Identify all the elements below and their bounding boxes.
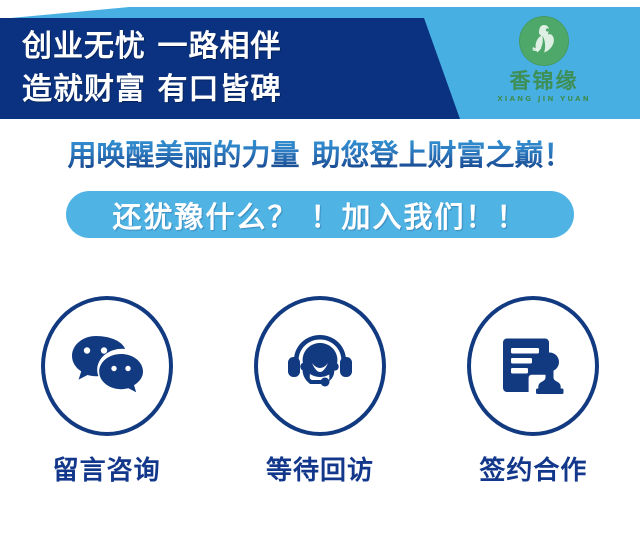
step-item-consult[interactable]: 留言咨询 xyxy=(0,296,213,496)
headline-line-1: 创业无忧 一路相伴 xyxy=(22,26,432,69)
logo-brand-pinyin: XIANG JIN YUAN xyxy=(497,95,591,103)
wechat-chat-bubbles-icon xyxy=(67,330,147,402)
step-circle-callback xyxy=(254,296,386,436)
steps-row: 留言咨询 xyxy=(0,296,640,496)
subheadline-part-2: 助您登上财富之巅！ xyxy=(312,138,573,172)
subheadline-part-1: 用唤醒美丽的力量 xyxy=(67,138,299,172)
step-label-consult: 留言咨询 xyxy=(53,450,161,487)
subheadline-text: 用唤醒美丽的力量助您登上财富之巅！ xyxy=(67,132,572,174)
step-item-callback[interactable]: 等待回访 xyxy=(213,296,426,496)
join-us-cta-button[interactable]: 还犹豫什么？ ！加入我们！！ xyxy=(66,191,574,238)
step-label-contract: 签约合作 xyxy=(479,450,587,487)
banner-headline-group: 创业无忧 一路相伴 造就财富 有口皆碑 xyxy=(22,18,432,119)
step-circle-contract xyxy=(467,296,599,436)
headline-line-2: 造就财富 有口皆碑 xyxy=(22,69,432,112)
step-item-contract[interactable]: 签约合作 xyxy=(427,296,640,496)
step-label-callback: 等待回访 xyxy=(266,450,374,487)
subheadline: 用唤醒美丽的力量助您登上财富之巅！ xyxy=(0,126,640,180)
logo-brand-name: 香锦缘 xyxy=(510,69,579,92)
join-us-cta-label: 还犹豫什么？ ！加入我们！！ xyxy=(112,194,527,236)
brand-logo: 香锦缘 XIANG JIN YUAN xyxy=(486,16,602,118)
contract-stamp-icon xyxy=(496,329,570,403)
headset-agent-icon xyxy=(281,327,359,405)
top-banner: 创业无忧 一路相伴 造就财富 有口皆碑 香锦缘 XIANG JIN YUAN xyxy=(0,0,640,122)
phoenix-emblem-icon xyxy=(519,16,569,66)
step-circle-consult xyxy=(41,296,173,436)
